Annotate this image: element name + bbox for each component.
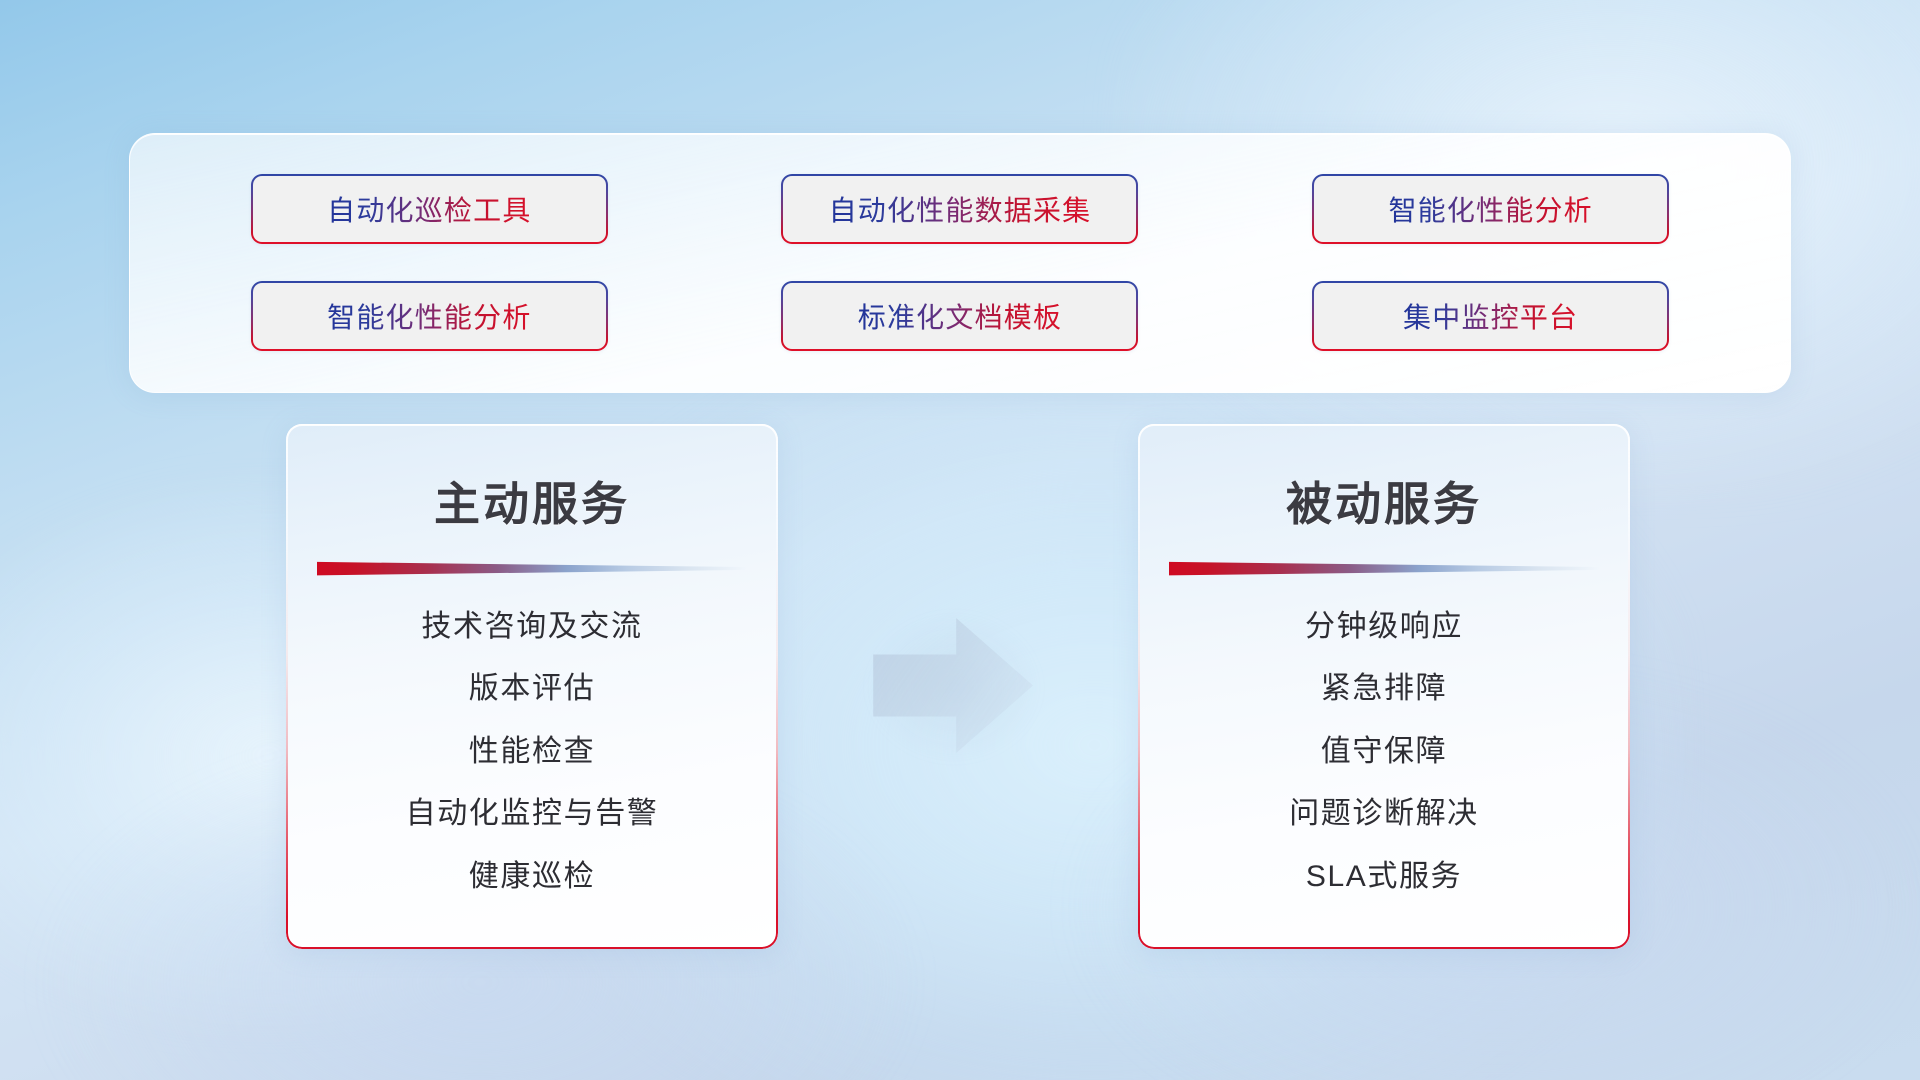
- capability-pill-centralized-monitoring-platform[interactable]: 集中监控平台: [1312, 281, 1669, 351]
- capability-pill-standardized-document-template[interactable]: 标准化文档模板: [781, 281, 1138, 351]
- service-list-item: 健康巡检: [469, 851, 595, 895]
- capability-pill-label: 标准化文档模板: [858, 296, 1062, 336]
- service-list-item: 紧急排障: [1321, 663, 1447, 707]
- capability-pill-label: 集中监控平台: [1403, 296, 1578, 336]
- service-list-item: 技术咨询及交流: [421, 601, 642, 645]
- capability-pill-label: 智能化性能分析: [327, 296, 531, 336]
- capability-pill-automated-inspection-tool[interactable]: 自动化巡检工具: [251, 174, 608, 244]
- service-list-item: 版本评估: [469, 663, 595, 707]
- service-list-item: 值守保障: [1321, 726, 1447, 770]
- capability-pill-intelligent-performance-analysis-top[interactable]: 智能化性能分析: [1312, 174, 1669, 244]
- service-card-title: 主动服务: [314, 468, 750, 534]
- capability-pill-label: 自动化巡检工具: [327, 189, 531, 229]
- capability-pill-intelligent-performance-analysis-bottom[interactable]: 智能化性能分析: [251, 281, 608, 351]
- service-item-list: 分钟级响应 紧急排障 值守保障 问题诊断解决 SLA式服务: [1166, 576, 1602, 923]
- capability-panel: 自动化巡检工具 自动化性能数据采集 智能化性能分析 智能化性能分析 标准化文档模…: [129, 133, 1791, 393]
- service-item-list: 技术咨询及交流 版本评估 性能检查 自动化监控与告警 健康巡检: [314, 576, 750, 923]
- service-card-proactive[interactable]: 主动服务 技术咨询及交流 版本评估 性能检查 自动化监控与告警 健康巡检: [286, 424, 778, 949]
- service-list-item: 问题诊断解决: [1289, 788, 1479, 832]
- diagram-stage: 自动化巡检工具 自动化性能数据采集 智能化性能分析 智能化性能分析 标准化文档模…: [0, 0, 1920, 1080]
- service-list-item: 自动化监控与告警: [406, 788, 659, 832]
- service-card-divider: [1169, 560, 1599, 576]
- service-list-item: 性能检查: [469, 726, 595, 770]
- service-card-reactive[interactable]: 被动服务 分钟级响应 紧急排障 值守保障 问题诊断解决 SLA式服务: [1138, 424, 1630, 949]
- service-card-divider: [317, 560, 747, 576]
- capability-pill-label: 自动化性能数据采集: [829, 189, 1092, 229]
- service-card-title: 被动服务: [1166, 468, 1602, 534]
- service-list-item: 分钟级响应: [1305, 601, 1463, 645]
- service-list-item: SLA式服务: [1306, 851, 1462, 895]
- capability-pill-automated-performance-data-collection[interactable]: 自动化性能数据采集: [781, 174, 1138, 244]
- capability-pill-label: 智能化性能分析: [1388, 189, 1592, 229]
